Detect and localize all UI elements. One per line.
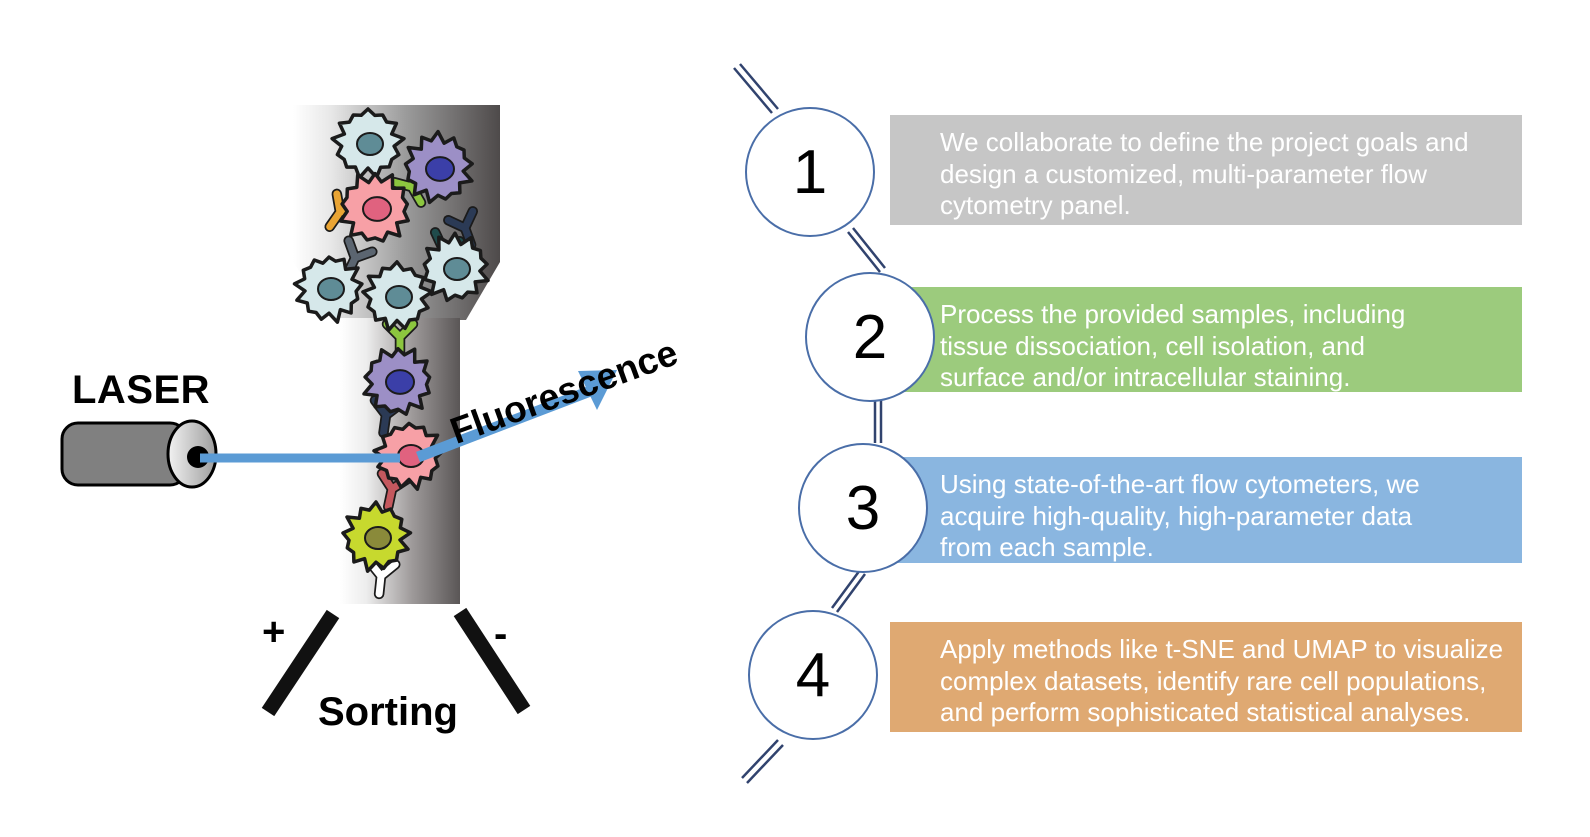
step-number-3: 3 bbox=[846, 473, 880, 544]
step-bar-1: We collaborate to define the project goa… bbox=[890, 115, 1522, 225]
connector-bottom bbox=[742, 740, 778, 778]
step-2-line-1: Process the provided samples, including bbox=[940, 299, 1508, 331]
step-2-line-2: tissue dissociation, cell isolation, and bbox=[940, 331, 1508, 363]
workflow-steps: We collaborate to define the project goa… bbox=[720, 0, 1590, 832]
step-bar-3: Using state-of-the-art flow cytometers, … bbox=[890, 457, 1522, 563]
cell-nucleus bbox=[386, 286, 412, 308]
connector-top bbox=[734, 68, 772, 113]
step-circle-2[interactable]: 2 bbox=[805, 272, 935, 402]
step-1-line-1: We collaborate to define the project goa… bbox=[940, 127, 1508, 159]
step-circle-3[interactable]: 3 bbox=[798, 443, 928, 573]
flow-cytometry-diagram: LASER Fluorescence + - Sorting bbox=[0, 0, 730, 832]
sorting-label: Sorting bbox=[318, 690, 458, 735]
step-2-line-3: surface and/or intracellular staining. bbox=[940, 362, 1508, 394]
cell-nucleus bbox=[365, 527, 391, 549]
step-4-line-2: complex datasets, identify rare cell pop… bbox=[940, 666, 1508, 698]
step-4-line-3: and perform sophisticated statistical an… bbox=[940, 697, 1508, 729]
step-number-1: 1 bbox=[793, 137, 827, 208]
step-3-line-1: Using state-of-the-art flow cytometers, … bbox=[940, 469, 1508, 501]
negative-sign-label: - bbox=[494, 612, 507, 657]
step-1-line-2: design a customized, multi-parameter flo… bbox=[940, 159, 1508, 191]
cell-nucleus bbox=[318, 278, 344, 300]
infographic-canvas: LASER Fluorescence + - Sorting We collab… bbox=[0, 0, 1590, 832]
step-bar-4: Apply methods like t-SNE and UMAP to vis… bbox=[890, 622, 1522, 732]
step-number-2: 2 bbox=[853, 302, 887, 373]
step-circle-4[interactable]: 4 bbox=[748, 610, 878, 740]
deflector-plate-negative bbox=[460, 612, 524, 710]
positive-sign-label: + bbox=[262, 610, 285, 655]
step-circle-1[interactable]: 1 bbox=[745, 107, 875, 237]
cell-nucleus bbox=[444, 258, 470, 280]
laser-device bbox=[62, 421, 216, 487]
cell-nucleus bbox=[426, 157, 454, 181]
connector-3-4 bbox=[832, 570, 860, 608]
step-number-4: 4 bbox=[796, 640, 830, 711]
laser-label: LASER bbox=[72, 368, 210, 413]
cell-nucleus bbox=[386, 370, 414, 394]
cell-nucleus bbox=[363, 197, 391, 221]
step-3-line-3: from each sample. bbox=[940, 532, 1508, 564]
cell-nucleus bbox=[357, 133, 383, 155]
step-bar-2: Process the provided samples, includingt… bbox=[890, 287, 1522, 392]
step-1-line-3: cytometry panel. bbox=[940, 190, 1508, 222]
step-4-line-1: Apply methods like t-SNE and UMAP to vis… bbox=[940, 634, 1508, 666]
connector-1-2 bbox=[848, 232, 880, 272]
step-3-line-2: acquire high-quality, high-parameter dat… bbox=[940, 501, 1508, 533]
